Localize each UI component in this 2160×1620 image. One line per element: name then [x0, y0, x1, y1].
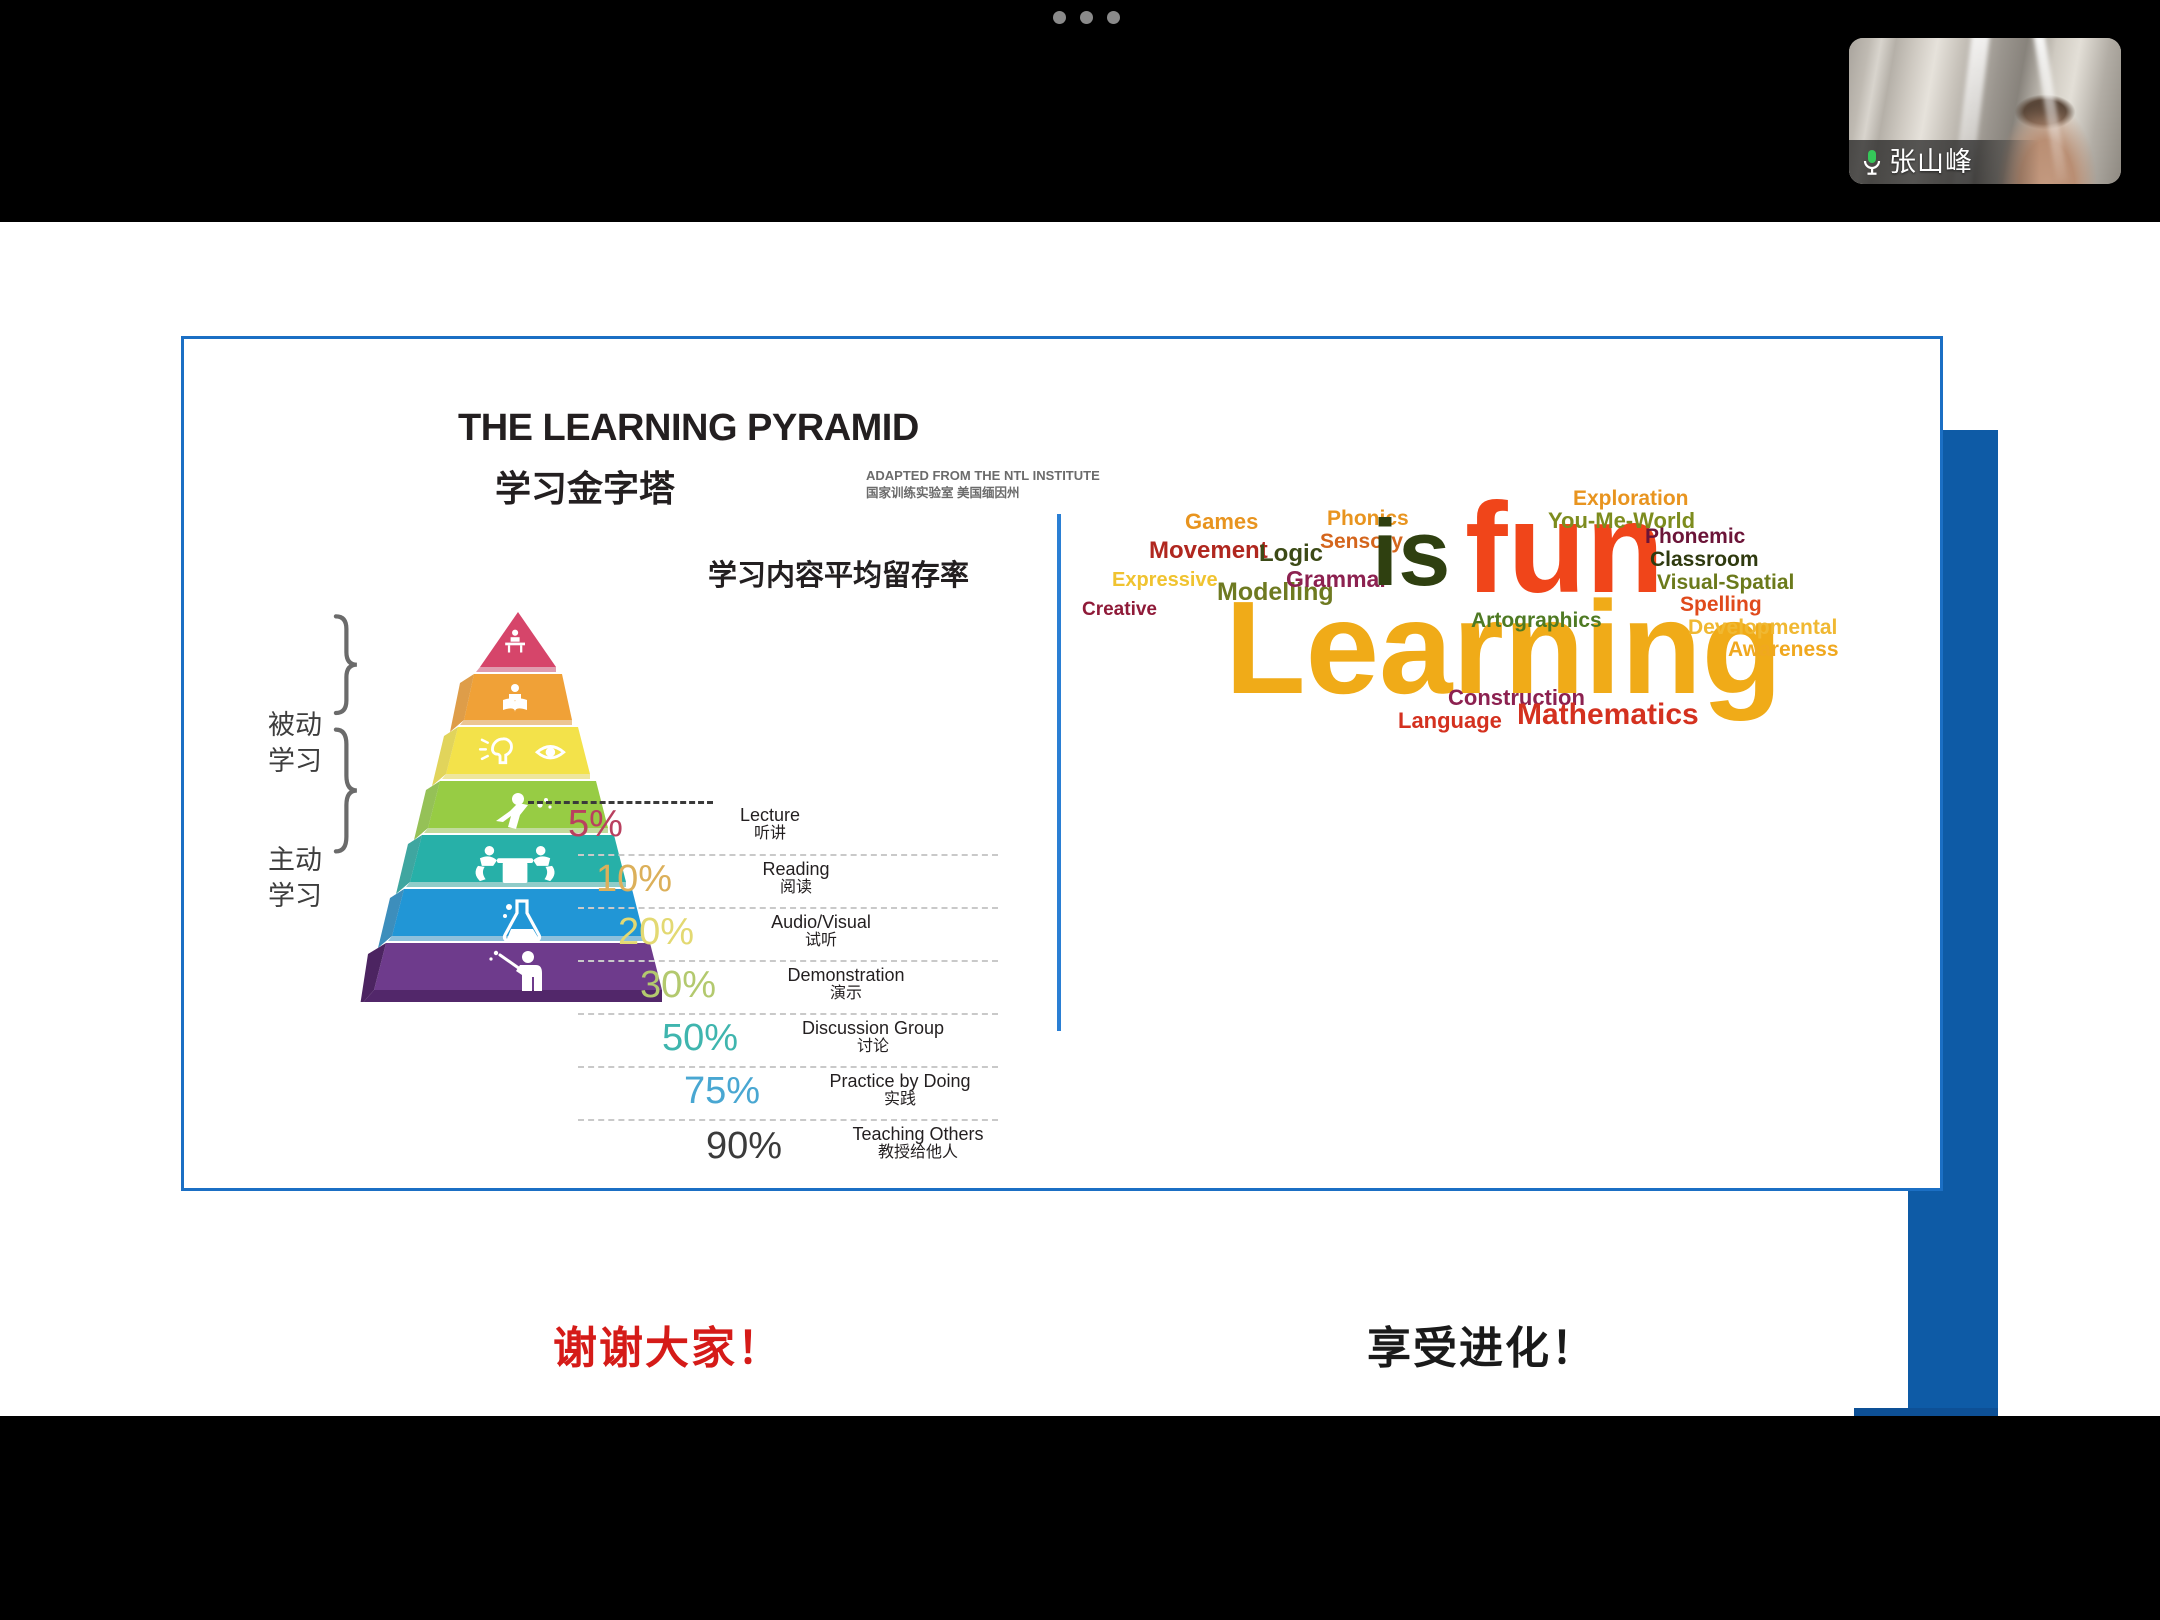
row-label: Reading 阅读 — [716, 859, 876, 897]
row-percent: 50% — [662, 1019, 738, 1057]
word-cloud-word: Logic — [1259, 542, 1323, 566]
word-cloud-word: Movement — [1149, 539, 1268, 563]
participant-name: 张山峰 — [1889, 149, 1973, 176]
pyramid-row: 75% Practice by Doing 实践 — [578, 1068, 998, 1121]
row-percent: 20% — [618, 913, 694, 951]
row-label-cn: 演示 — [756, 985, 936, 1003]
word-cloud-word: Exploration — [1573, 488, 1689, 509]
row-label-en: Demonstration — [756, 965, 936, 985]
drag-dot — [1107, 11, 1120, 24]
brace-passive-l1: 被动 — [250, 707, 340, 743]
row-label-en: Practice by Doing — [800, 1071, 1000, 1091]
row-label-cn: 听讲 — [690, 825, 850, 843]
row-percent: 75% — [684, 1072, 760, 1110]
drag-dot — [1053, 11, 1066, 24]
word-cloud-word: Expressive — [1112, 570, 1218, 590]
brace-passive-l2: 学习 — [250, 743, 340, 779]
caption-enjoy: 享受进化！ — [1367, 1312, 1597, 1376]
word-cloud-word: Language — [1398, 710, 1502, 732]
row-label-en: Teaching Others — [818, 1124, 1018, 1144]
row-percent: 90% — [706, 1127, 782, 1165]
row-label: Teaching Others 教授给他人 — [818, 1124, 1018, 1162]
row-label-cn: 试听 — [736, 932, 906, 950]
pyramid-credit-en: ADAPTED FROM THE NTL INSTITUTE — [866, 467, 1100, 485]
row-label: Demonstration 演示 — [756, 965, 936, 1003]
word-cloud-word: Phonemic — [1645, 526, 1745, 547]
word-cloud-word: Classroom — [1650, 549, 1759, 570]
row-label: Lecture 听讲 — [690, 805, 850, 843]
shared-screen-canvas: THE LEARNING PYRAMID 学习金字塔 ADAPTED FROM … — [0, 222, 2160, 1416]
pyramid-row: 20% Audio/Visual 试听 — [578, 909, 998, 962]
passive-active-separator — [528, 801, 713, 804]
pyramid-row-list: 5% Lecture 听讲 10% Reading 阅读 — [578, 803, 998, 1172]
pyramid-row: 30% Demonstration 演示 — [578, 962, 998, 1015]
brace-active-l2: 学习 — [250, 878, 340, 914]
pyramid-row: 10% Reading 阅读 — [578, 856, 998, 909]
row-label-cn: 教授给他人 — [818, 1144, 1018, 1162]
bottom-toolbar — [0, 1416, 2160, 1620]
pyramid-credit-cn: 国家训练实验室 美国缅因州 — [866, 485, 1100, 502]
drag-handle-dots[interactable] — [1053, 11, 1120, 24]
brace-label-active: 主动 学习 — [250, 842, 340, 915]
row-label-cn: 实践 — [800, 1091, 1000, 1109]
top-bar: 张山峰 — [0, 0, 2160, 222]
retention-header: 学习内容平均留存率 — [708, 552, 969, 594]
pyramid-credit: ADAPTED FROM THE NTL INSTITUTE 国家训练实验室 美… — [866, 467, 1100, 501]
row-label-en: Reading — [716, 859, 876, 879]
row-label-en: Lecture — [690, 805, 850, 825]
row-percent: 30% — [640, 966, 716, 1004]
pyramid-row: 90% Teaching Others 教授给他人 — [578, 1121, 998, 1172]
row-percent: 10% — [596, 860, 672, 898]
word-cloud-word: Artographics — [1471, 610, 1602, 631]
row-label-cn: 阅读 — [716, 879, 876, 897]
word-cloud-word: Visual-Spatial — [1657, 572, 1794, 593]
word-cloud-word: Creative — [1082, 600, 1157, 619]
row-label-cn: 讨论 — [778, 1038, 968, 1056]
pyramid-row: 5% Lecture 听讲 — [578, 803, 998, 856]
row-percent: 5% — [568, 805, 623, 843]
word-cloud: CreativeExpressiveMovementGamesModelling… — [1080, 482, 1900, 762]
drag-dot — [1080, 11, 1093, 24]
brace-label-passive: 被动 学习 — [250, 707, 340, 780]
caption-thanks: 谢谢大家！ — [553, 1312, 783, 1376]
word-cloud-word: Spelling — [1680, 594, 1762, 615]
self-view-name-bar: 张山峰 — [1849, 140, 2121, 184]
screen-share-viewer: 张山峰 THE LEARNING PYRAMID 学习金字塔 ADAPTED F… — [0, 0, 2160, 1620]
word-cloud-word: Mathematics — [1517, 700, 1699, 730]
self-view-tile[interactable]: 张山峰 — [1849, 38, 2121, 184]
microphone-icon — [1861, 148, 1883, 176]
row-label: Discussion Group 讨论 — [778, 1018, 968, 1056]
row-label-en: Discussion Group — [778, 1018, 968, 1038]
learning-pyramid: THE LEARNING PYRAMID 学习金字塔 ADAPTED FROM … — [260, 407, 1000, 512]
word-cloud-word: Games — [1185, 511, 1258, 533]
word-cloud-word: Awareness — [1728, 639, 1839, 660]
row-label-en: Audio/Visual — [736, 912, 906, 932]
brace-active-l1: 主动 — [250, 842, 340, 878]
pyramid-row: 50% Discussion Group 讨论 — [578, 1015, 998, 1068]
row-label: Practice by Doing 实践 — [800, 1071, 1000, 1109]
pyramid-title: THE LEARNING PYRAMID — [458, 407, 1000, 450]
slide-divider — [1057, 514, 1061, 1031]
word-cloud-word: Developmental — [1688, 617, 1837, 638]
row-label: Audio/Visual 试听 — [736, 912, 906, 950]
